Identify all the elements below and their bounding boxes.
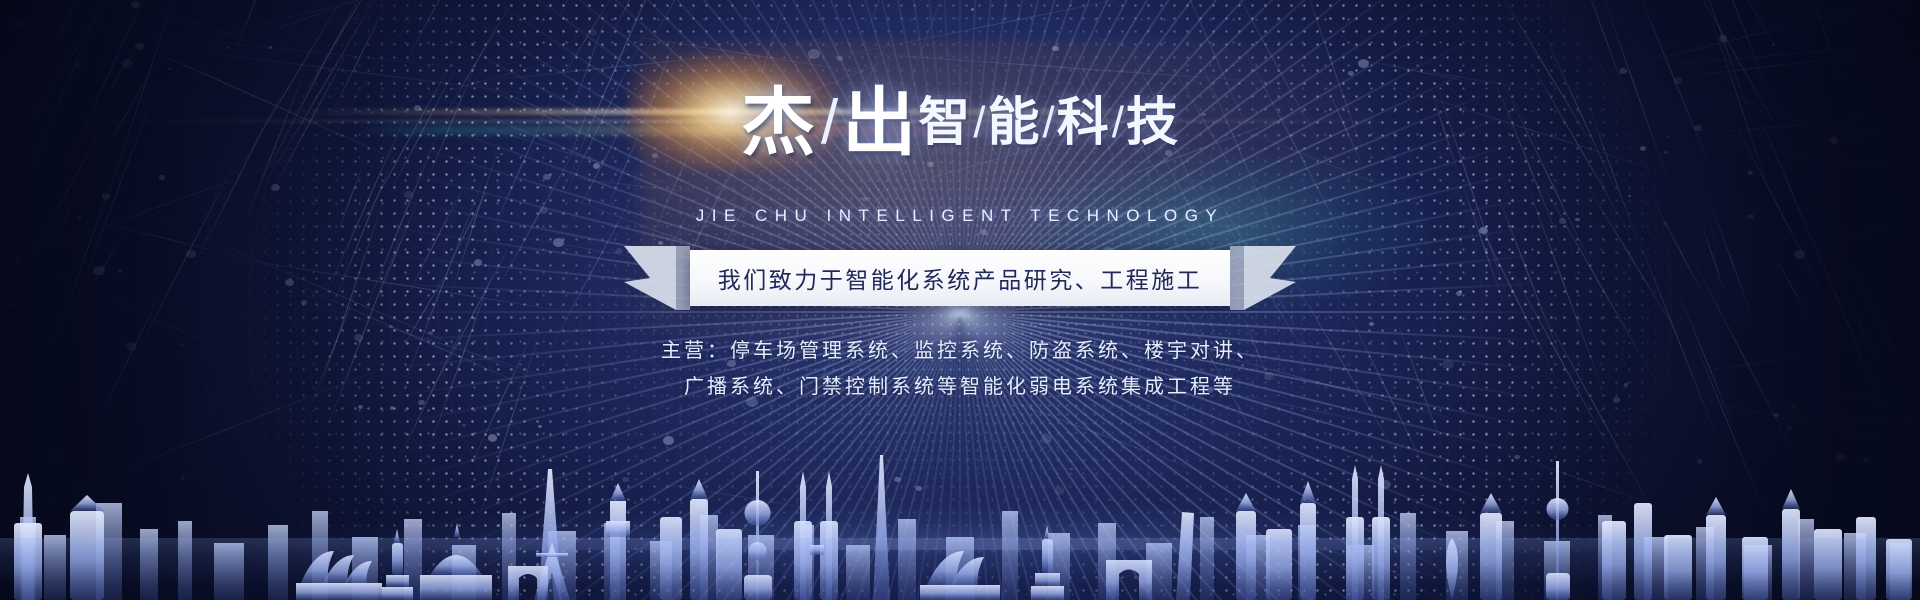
brand-headline: 杰/出智/能/科/技 [0, 86, 1920, 160]
service-description: 主营：停车场管理系统、监控系统、防盗系统、楼宇对讲、 广播系统、门禁控制系统等智… [0, 333, 1920, 405]
brand-separator-2: / [973, 98, 985, 147]
brand-char-neng: 能 [987, 94, 1040, 152]
brand-char-ke: 科 [1057, 94, 1110, 152]
brand-char-chu: 出 [842, 81, 918, 164]
hero-banner: 杰/出智/能/科/技 JIE CHU INTELLIGENT TECHNOLOG… [0, 0, 1920, 600]
brand-separator-4: / [1112, 98, 1124, 147]
brand-char-jie: 杰 [741, 81, 817, 164]
brand-separator-3: / [1043, 98, 1055, 147]
ribbon-tail-left [624, 242, 690, 314]
service-description-line-2: 广播系统、门禁控制系统等智能化弱电系统集成工程等 [0, 369, 1920, 405]
brand-separator-1: / [821, 88, 838, 157]
service-description-line-1: 主营：停车场管理系统、监控系统、防盗系统、楼宇对讲、 [0, 333, 1920, 369]
slogan-ribbon: 我们致力于智能化系统产品研究、工程施工 [640, 250, 1280, 306]
english-subtitle: JIE CHU INTELLIGENT TECHNOLOGY [0, 206, 1920, 226]
brand-char-zhi: 智 [918, 94, 971, 152]
banner-content: 杰/出智/能/科/技 JIE CHU INTELLIGENT TECHNOLOG… [0, 0, 1920, 600]
ribbon-tail-right [1230, 242, 1296, 314]
ribbon-slogan-text: 我们致力于智能化系统产品研究、工程施工 [718, 261, 1203, 295]
brand-char-ji: 技 [1126, 94, 1179, 152]
ribbon-bar: 我们致力于智能化系统产品研究、工程施工 [690, 250, 1230, 306]
